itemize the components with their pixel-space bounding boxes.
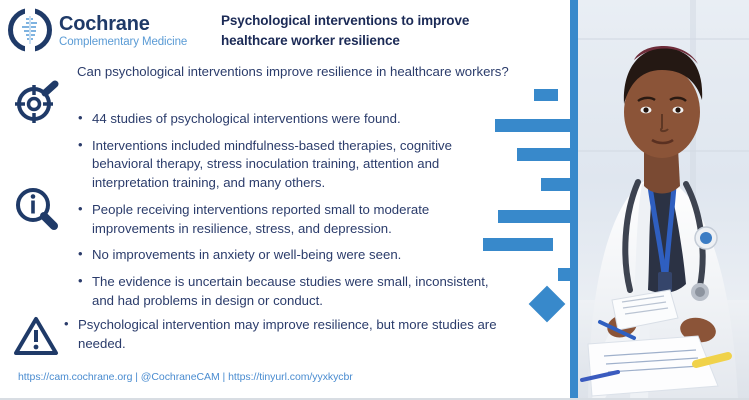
research-question: Can psychological interventions improve … [77, 63, 509, 82]
list-item: The evidence is uncertain because studie… [77, 273, 509, 310]
healthcare-worker-photo [578, 0, 749, 400]
warning-triangle-icon [12, 313, 68, 363]
target-crosshair-icon [12, 78, 68, 128]
list-item: People receiving interventions reported … [77, 201, 509, 238]
forest-bar [517, 148, 579, 161]
info-magnifier-icon [12, 183, 68, 233]
list-item: Psychological intervention may improve r… [63, 316, 513, 353]
list-item: Interventions included mindfulness-based… [77, 137, 509, 193]
list-item: No improvements in anxiety or well-being… [77, 246, 509, 265]
forest-bar [498, 210, 579, 223]
forest-plot-summary-diamond [529, 286, 566, 323]
list-item: 44 studies of psychological intervention… [77, 110, 509, 129]
logo-wordmark: Cochrane Complementary Medicine [59, 12, 187, 49]
slide-canvas: Cochrane Complementary Medicine Psycholo… [0, 0, 749, 400]
cochrane-forest-plot-logo-icon [8, 8, 52, 52]
page-title: Psychological interventions to improve h… [221, 11, 521, 50]
cochrane-logo[interactable]: Cochrane Complementary Medicine [8, 8, 187, 52]
footer-links[interactable]: https://cam.cochrane.org | @CochraneCAM … [18, 371, 353, 383]
brand-subtitle: Complementary Medicine [59, 37, 187, 49]
forest-bar [534, 89, 558, 101]
conclusion-list: Psychological intervention may improve r… [63, 316, 513, 353]
brand-name: Cochrane [59, 14, 187, 34]
findings-list: 44 studies of psychological intervention… [77, 110, 509, 319]
